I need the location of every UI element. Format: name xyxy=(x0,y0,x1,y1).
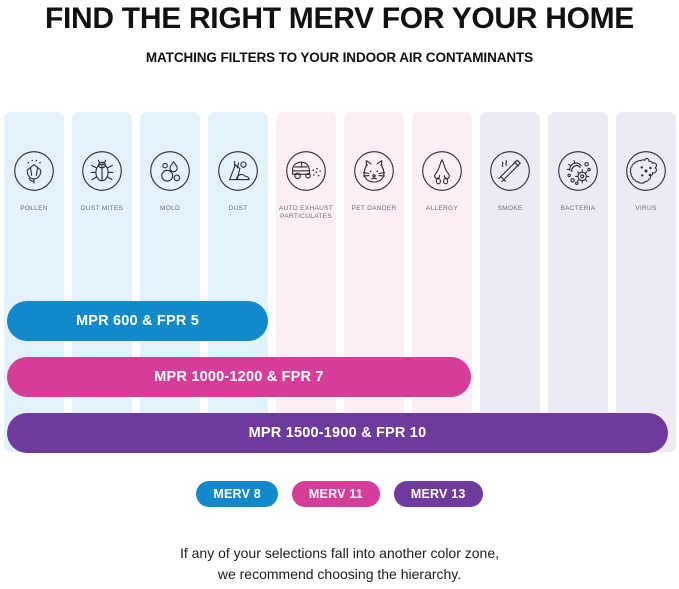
filter-bar-merv11: MPR 1000-1200 & FPR 7 xyxy=(7,357,471,397)
contaminant-label: VIRUS xyxy=(616,205,676,213)
contaminant-column-dust: DUST xyxy=(208,112,268,452)
car-exhaust-icon xyxy=(285,150,327,192)
contaminant-column-smoke: SMOKE xyxy=(480,112,540,452)
filter-bar-merv13: MPR 1500-1900 & FPR 10 xyxy=(7,413,668,453)
merv-legend: MERV 8 MERV 11 MERV 13 xyxy=(0,481,679,507)
legend-pill-merv11: MERV 11 xyxy=(292,481,380,507)
nose-icon xyxy=(421,150,463,192)
mold-spores-icon xyxy=(149,150,191,192)
page-subtitle: MATCHING FILTERS TO YOUR INDOOR AIR CONT… xyxy=(0,50,679,65)
footer-line-1: If any of your selections fall into anot… xyxy=(0,543,679,564)
contaminant-column-allergy: ALLERGY xyxy=(412,112,472,452)
contaminant-label: PET DANDER xyxy=(344,205,404,213)
contaminant-columns: POLLENDUST MITESMOLDDUSTAUTO EXHAUSTPART… xyxy=(4,112,676,452)
contaminant-column-pollen: POLLEN xyxy=(4,112,64,452)
cigarette-smoke-icon xyxy=(489,150,531,192)
virus-icon xyxy=(625,150,667,192)
contaminant-column-auto-exhaust-particulates: AUTO EXHAUSTPARTICULATES xyxy=(276,112,336,452)
contaminant-column-bacteria: BACTERIA xyxy=(548,112,608,452)
footer-note: If any of your selections fall into anot… xyxy=(0,543,679,585)
filter-bar-merv8: MPR 600 & FPR 5 xyxy=(7,301,268,341)
contaminant-label: DUST MITES xyxy=(72,205,132,213)
pollen-flower-icon xyxy=(13,150,55,192)
bacteria-germ-icon xyxy=(557,150,599,192)
contaminant-column-pet-dander: PET DANDER xyxy=(344,112,404,452)
dust-broom-icon xyxy=(217,150,259,192)
footer-line-2: we recommend choosing the hierarchy. xyxy=(0,564,679,585)
contaminant-label: AUTO EXHAUSTPARTICULATES xyxy=(276,205,336,222)
legend-pill-merv13: MERV 13 xyxy=(394,481,483,507)
cat-face-icon xyxy=(353,150,395,192)
contaminant-label: MOLD xyxy=(140,205,200,213)
contaminant-label: SMOKE xyxy=(480,205,540,213)
legend-pill-merv8: MERV 8 xyxy=(196,481,278,507)
contaminant-label: BACTERIA xyxy=(548,205,608,213)
contaminant-column-dust-mites: DUST MITES xyxy=(72,112,132,452)
contaminant-label: POLLEN xyxy=(4,205,64,213)
dust-mite-bug-icon xyxy=(81,150,123,192)
contaminant-label: ALLERGY xyxy=(412,205,472,213)
contaminant-label: DUST xyxy=(208,205,268,213)
contaminant-column-mold: MOLD xyxy=(140,112,200,452)
page-title: FIND THE RIGHT MERV FOR YOUR HOME xyxy=(0,2,679,36)
contaminant-column-virus: VIRUS xyxy=(616,112,676,452)
